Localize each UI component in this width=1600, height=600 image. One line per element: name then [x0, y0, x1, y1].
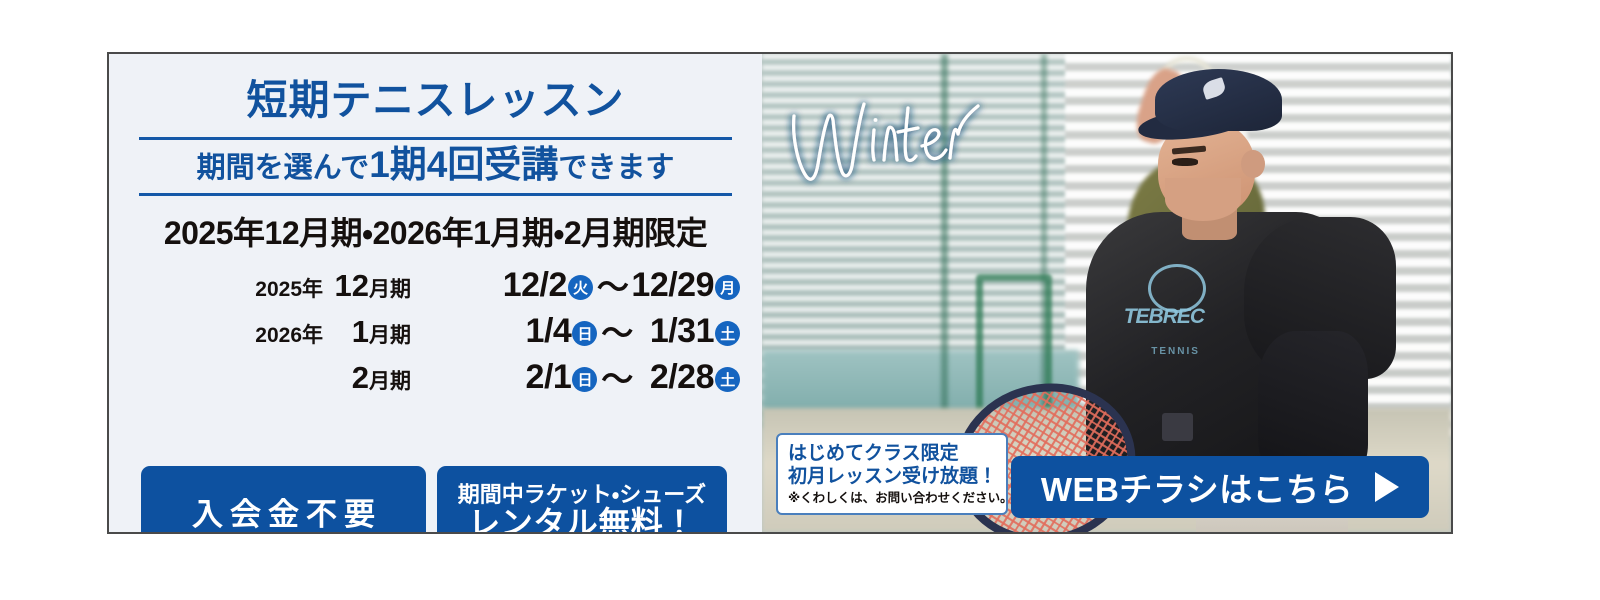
weekday-badge-end: 月 [715, 275, 740, 300]
schedule-term-number: 12 [335, 268, 369, 303]
photo-panel: TEBREC TENNIS [762, 54, 1451, 532]
schedule-term: 1月期 [327, 314, 411, 350]
schedule-range: 12/2 火 〜 12/29 月 [411, 262, 741, 308]
subtitle-post: できます [558, 152, 674, 184]
schedule-term-suffix: 月期 [369, 324, 411, 347]
schedule-term: 2月期 [327, 360, 411, 396]
weekday-badge-start: 日 [572, 321, 597, 346]
first-timer-info-box: はじめてクラス限定 初月レッスン受け放題！ ※くわしくは、お問い合わせください。 [776, 433, 1008, 515]
schedule-start-date: 12/2 [503, 266, 567, 305]
schedule-term-suffix: 月期 [369, 370, 411, 393]
range-tilde: 〜 [601, 354, 633, 400]
schedule-range: 2/1 日 〜 2/28 土 [411, 354, 741, 400]
divider-top [139, 137, 732, 140]
schedule-row: 2025年 12月期 12/2 火 〜 12/29 月 [151, 262, 741, 308]
no-admission-fee-button[interactable]: 入会金不要 [141, 466, 426, 534]
subtitle-highlight: 1期4回受講 [369, 144, 558, 185]
divider-bottom [139, 193, 732, 196]
schedule-end-date: 2/28 [650, 358, 714, 397]
foreground-player-cuff [1162, 413, 1193, 442]
info-box-note: ※くわしくは、お問い合わせください。 [788, 490, 998, 508]
free-rental-button[interactable]: 期間中ラケット・シューズ レンタル無料！ [437, 466, 727, 534]
benefit-button-row: 入会金不要 期間中ラケット・シューズ レンタル無料！ [141, 466, 727, 534]
schedule-start-date: 1/4 [526, 312, 572, 351]
shirt-logo-text: TEBREC [1124, 305, 1234, 329]
web-flyer-cta-button[interactable]: WEBチラシはこちら [1011, 456, 1429, 518]
tennis-court-photo: TEBREC TENNIS [762, 54, 1451, 532]
schedule-term-number: 2 [352, 360, 369, 395]
subtitle-pre: 期間を選んで [197, 152, 370, 184]
schedule-list: 2025年 12月期 12/2 火 〜 12/29 月 2026年 1月期 1/… [151, 262, 741, 400]
winter-script-text [782, 80, 1012, 190]
weekday-badge-start: 日 [572, 367, 597, 392]
limited-period-line: 2025年12月期・2026年1月期・2月期限定 [109, 217, 762, 249]
range-tilde: 〜 [597, 262, 629, 308]
schedule-end-date: 1/31 [650, 312, 714, 351]
banner-subtitle: 期間を選んで1期4回受講できます [109, 146, 762, 183]
banner-title: 短期テニスレッスン [109, 80, 762, 121]
schedule-year: 2025年 [223, 273, 327, 303]
schedule-year: 2026年 [223, 319, 327, 349]
web-flyer-cta-label: WEBチラシはこちら [1041, 463, 1353, 511]
info-panel: 短期テニスレッスン 期間を選んで1期4回受講できます 2025年12月期・202… [109, 54, 762, 532]
short-term-tennis-lesson-banner: 短期テニスレッスン 期間を選んで1期4回受講できます 2025年12月期・202… [107, 52, 1453, 534]
schedule-row: 2026年 1月期 1/4 日 〜 1/31 土 [151, 308, 741, 354]
free-rental-line2: レンタル無料！ [468, 507, 696, 534]
schedule-start-date: 2/1 [526, 358, 572, 397]
info-box-line1: はじめてクラス限定 [788, 442, 998, 465]
info-box-line2: 初月レッスン受け放題！ [788, 465, 998, 488]
schedule-term-number: 1 [352, 314, 369, 349]
schedule-term: 12月期 [327, 268, 411, 304]
schedule-term-suffix: 月期 [369, 278, 411, 301]
foreground-player-ear [1241, 150, 1265, 179]
play-triangle-icon [1375, 472, 1399, 502]
weekday-badge-end: 土 [715, 321, 740, 346]
foreground-player-jaw [1165, 178, 1241, 221]
range-tilde: 〜 [601, 308, 633, 354]
schedule-end-date: 12/29 [631, 266, 714, 305]
schedule-range: 1/4 日 〜 1/31 土 [411, 308, 741, 354]
no-admission-fee-label: 入会金不要 [185, 489, 382, 534]
shirt-logo-subtext: TENNIS [1151, 346, 1220, 357]
foreground-player-eye [1172, 158, 1198, 166]
weekday-badge-start: 火 [568, 275, 593, 300]
weekday-badge-end: 土 [715, 367, 740, 392]
schedule-row: 2月期 2/1 日 〜 2/28 土 [151, 354, 741, 400]
free-rental-line1: 期間中ラケット・シューズ [458, 483, 706, 506]
